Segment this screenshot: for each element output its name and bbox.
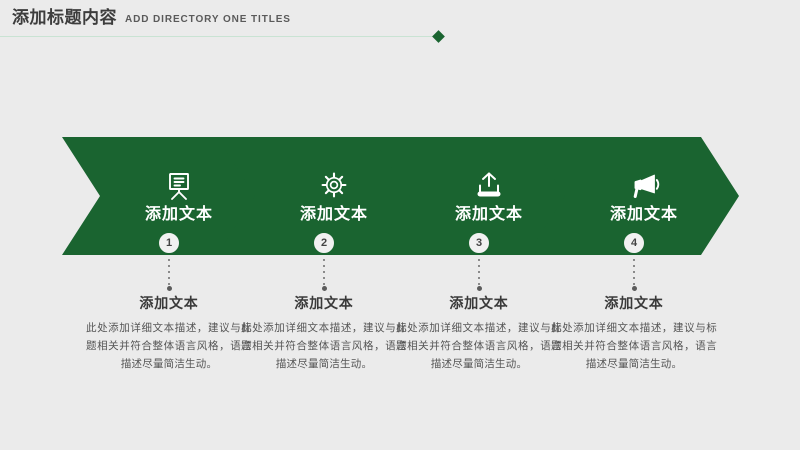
chevron-step-4-label: 添加文本 (610, 207, 678, 223)
chevron-step-1-content: 添加文本 (145, 170, 213, 223)
step-badge-1[interactable]: 1 (157, 231, 181, 255)
header-title-group: 添加标题内容 ADD DIRECTORY ONE TITLES (12, 9, 291, 26)
presentation-board-icon (162, 170, 196, 202)
step-body-2: 此处添加详细文本描述，建议与标题相关并符合整体语言风格，语言描述尽量简洁生动。 (235, 319, 413, 373)
chevron-step-4-content: 添加文本 (610, 170, 678, 223)
page-subtitle: ADD DIRECTORY ONE TITLES (125, 15, 291, 26)
connector-line-1 (168, 259, 170, 287)
step-body-1: 此处添加详细文本描述，建议与标题相关并符合整体语言风格，语言描述尽量简洁生动。 (80, 319, 258, 373)
step-heading-4: 添加文本 (545, 296, 723, 310)
chevron-step-3-label: 添加文本 (455, 207, 523, 223)
chevron-step-2-content: 添加文本 (300, 170, 368, 223)
connector-end-dot-1 (167, 286, 172, 291)
upload-tray-icon (472, 170, 506, 202)
step-badge-3[interactable]: 3 (467, 231, 491, 255)
chevron-step-3-content: 添加文本 (455, 170, 523, 223)
step-text-block-4: 添加文本 此处添加详细文本描述，建议与标题相关并符合整体语言风格，语言描述尽量简… (545, 296, 723, 373)
step-heading-2: 添加文本 (235, 296, 413, 310)
gear-icon (317, 170, 351, 202)
step-text-block-2: 添加文本 此处添加详细文本描述，建议与标题相关并符合整体语言风格，语言描述尽量简… (235, 296, 413, 373)
step-heading-1: 添加文本 (80, 296, 258, 310)
megaphone-icon (627, 170, 661, 202)
header-divider (0, 36, 438, 37)
connector-line-3 (478, 259, 480, 287)
slide-header: 添加标题内容 ADD DIRECTORY ONE TITLES (0, 0, 800, 42)
connector-end-dot-2 (322, 286, 327, 291)
header-diamond-icon (432, 30, 445, 43)
step-heading-3: 添加文本 (390, 296, 568, 310)
step-text-block-3: 添加文本 此处添加详细文本描述，建议与标题相关并符合整体语言风格，语言描述尽量简… (390, 296, 568, 373)
chevron-step-1-label: 添加文本 (145, 207, 213, 223)
connector-end-dot-4 (632, 286, 637, 291)
step-badge-4[interactable]: 4 (622, 231, 646, 255)
step-body-3: 此处添加详细文本描述，建议与标题相关并符合整体语言风格，语言描述尽量简洁生动。 (390, 319, 568, 373)
connector-end-dot-3 (477, 286, 482, 291)
connector-line-2 (323, 259, 325, 287)
chevron-step-2-label: 添加文本 (300, 207, 368, 223)
process-chevron-band: 添加文本 (0, 137, 800, 255)
step-badge-2[interactable]: 2 (312, 231, 336, 255)
step-text-block-1: 添加文本 此处添加详细文本描述，建议与标题相关并符合整体语言风格，语言描述尽量简… (80, 296, 258, 373)
step-body-4: 此处添加详细文本描述，建议与标题相关并符合整体语言风格，语言描述尽量简洁生动。 (545, 319, 723, 373)
page-title: 添加标题内容 (12, 9, 117, 26)
connector-line-4 (633, 259, 635, 287)
